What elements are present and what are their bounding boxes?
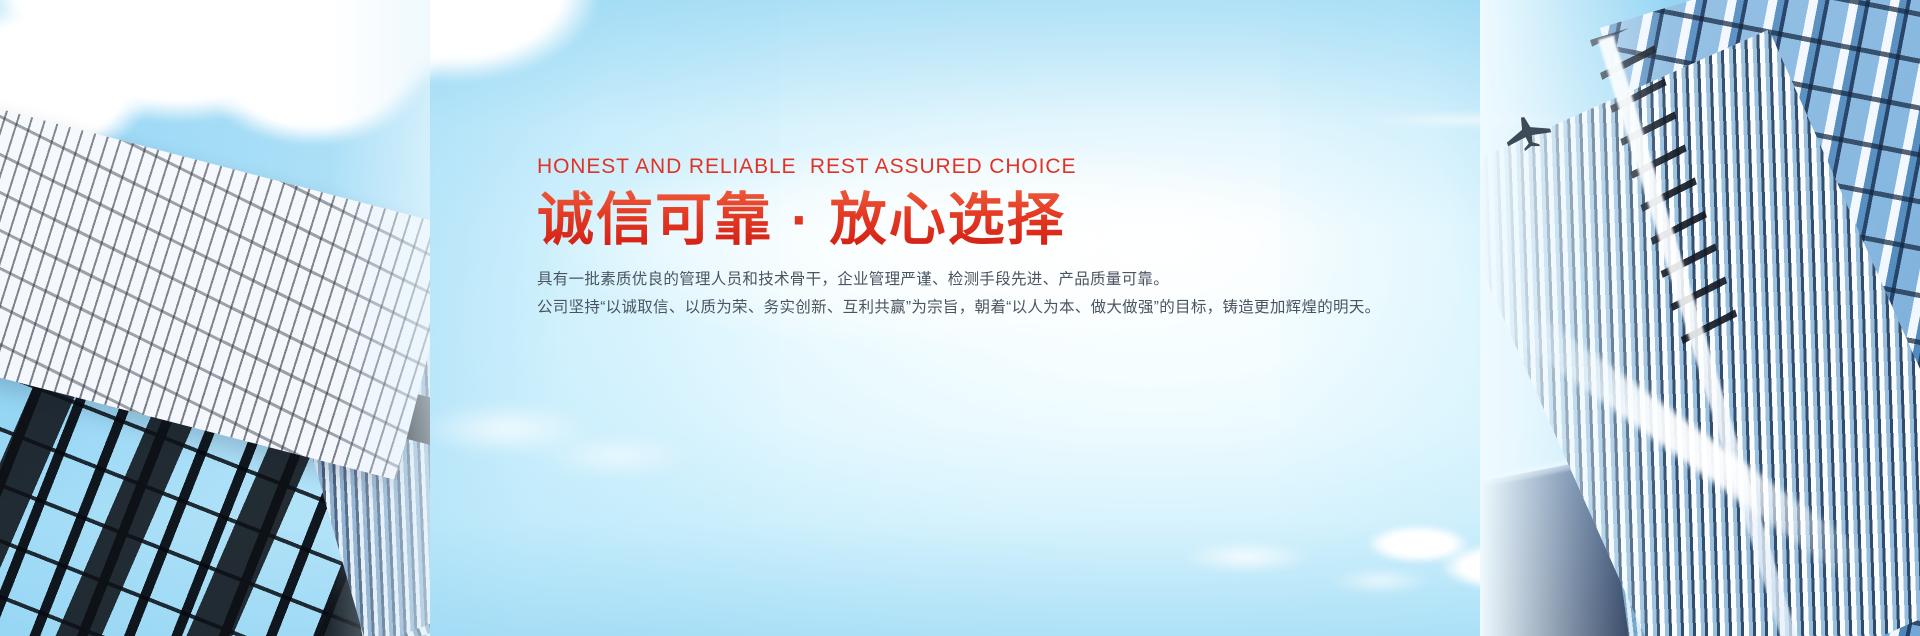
banner-body-line-1: 具有一批素质优良的管理人员和技术骨干，企业管理严谨、检测手段先进、产品质量可靠。 (537, 266, 1367, 294)
right-building (1480, 0, 1920, 636)
left-building-edge-fade (330, 0, 430, 636)
banner-headline: 诚信可靠 · 放心选择 (537, 187, 1367, 254)
right-building-edge-fade (1480, 0, 1670, 636)
left-building (0, 0, 430, 636)
hero-banner: HONEST AND RELIABLE REST ASSURED CHOICE … (0, 0, 1920, 636)
banner-copy: HONEST AND RELIABLE REST ASSURED CHOICE … (537, 155, 1367, 322)
banner-body-line-2: 公司坚持“以诚取信、以质为荣、务实创新、互利共赢”为宗旨，朝着“以人为本、做大做… (537, 294, 1367, 322)
banner-eyebrow: HONEST AND RELIABLE REST ASSURED CHOICE (537, 155, 1367, 178)
cloud-mid-low (380, 330, 740, 510)
